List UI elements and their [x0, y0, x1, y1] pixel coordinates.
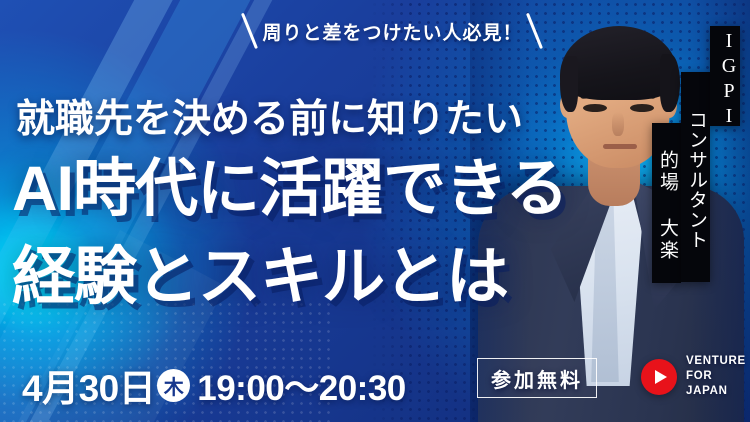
speaker-name-label: 的場 大楽: [652, 123, 681, 283]
logo-line-1: VENTURE: [686, 354, 746, 369]
play-triangle-icon: [655, 370, 667, 384]
headline-line-3: 経験とスキルとは: [12, 246, 508, 309]
schedule: 4月30日 木 19:00〜20:30: [22, 358, 406, 412]
catch-copy-text: 周りと差をつけたい人必見！: [263, 18, 523, 45]
logo-line-3: JAPAN: [686, 384, 746, 399]
logo-wordmark: VENTURE FOR JAPAN: [686, 354, 746, 400]
play-button-icon: [641, 359, 677, 395]
schedule-time: 19:00〜20:30: [197, 360, 406, 411]
headline-line-1: 就職先を決める前に知りたい: [16, 88, 523, 144]
schedule-date: 4月30日: [22, 358, 155, 412]
free-admission-badge: 参加無料: [477, 358, 597, 398]
logo-line-2: FOR: [686, 369, 746, 384]
speaker-company-label: IGPI: [710, 26, 740, 126]
webinar-banner: 周りと差をつけたい人必見！ 就職先を決める前に知りたい AI時代に活躍できる 経…: [0, 0, 750, 422]
catch-copy: 周りと差をつけたい人必見！: [248, 16, 535, 46]
venture-for-japan-logo: VENTURE FOR JAPAN: [641, 354, 746, 400]
headline-line-2: AI時代に活躍できる: [12, 158, 568, 221]
schedule-weekday-badge: 木: [157, 369, 190, 402]
speaker-role-label: コンサルタント: [681, 72, 710, 282]
